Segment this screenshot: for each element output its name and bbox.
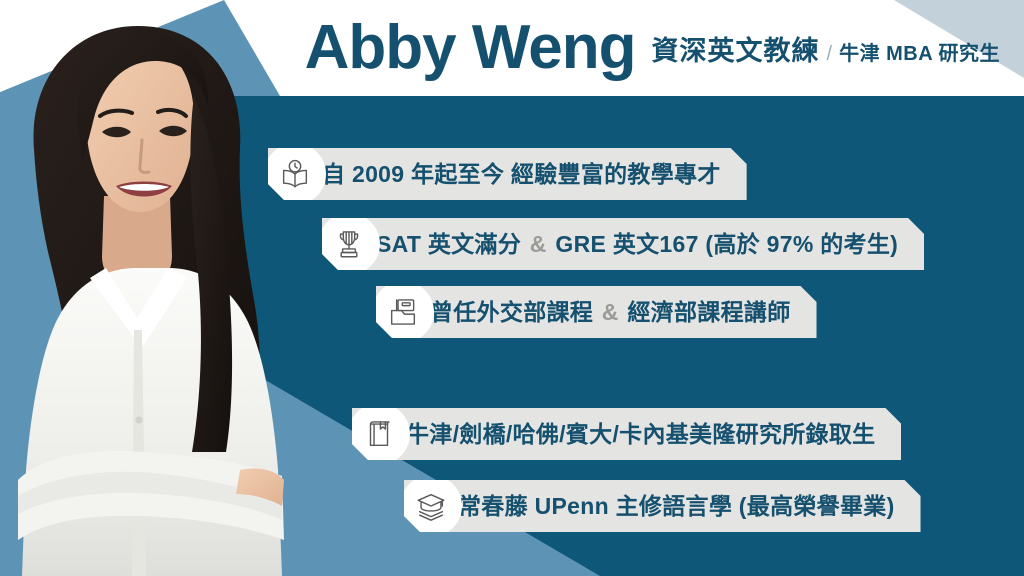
credential-text: 牛津/劍橋/哈佛/賓大/卡內基美隆研究所錄取生 bbox=[406, 423, 875, 446]
credential-text: 自 2009 年起至今 經驗豐富的教學專才 bbox=[322, 163, 721, 186]
credential-bar: SAT 英文滿分 & GRE 英文167 (高於 97% 的考生) bbox=[322, 218, 924, 270]
credential-bar: 自 2009 年起至今 經驗豐富的教學專才 bbox=[268, 148, 747, 200]
credential-row: 牛津/劍橋/哈佛/賓大/卡內基美隆研究所錄取生 bbox=[352, 408, 901, 460]
briefcase-icon bbox=[372, 281, 434, 343]
subtitle-role: 資深英文教練 bbox=[652, 29, 820, 68]
subtitle: 資深英文教練 / 牛津 MBA 研究生 bbox=[652, 29, 1000, 68]
credential-list: 自 2009 年起至今 經驗豐富的教學專才 SAT 英文滿分 & GRE 英文1… bbox=[0, 96, 1024, 576]
credential-bar: 牛津/劍橋/哈佛/賓大/卡內基美隆研究所錄取生 bbox=[352, 408, 901, 460]
page-title: Abby Weng bbox=[305, 17, 636, 79]
credential-row: 自 2009 年起至今 經驗豐富的教學專才 bbox=[268, 148, 747, 200]
credential-row: 常春藤 UPenn 主修語言學 (最高榮譽畢業) bbox=[404, 480, 921, 532]
credential-text: 曾任外交部課程 & 經濟部課程講師 bbox=[430, 301, 791, 324]
credential-text: 常春藤 UPenn 主修語言學 (最高榮譽畢業) bbox=[458, 495, 895, 518]
poster-canvas: Abby Weng 資深英文教練 / 牛津 MBA 研究生 自 2009 年起至… bbox=[0, 0, 1024, 576]
book-clock-icon bbox=[264, 143, 326, 205]
credential-bar: 曾任外交部課程 & 經濟部課程講師 bbox=[376, 286, 817, 338]
credential-row: SAT 英文滿分 & GRE 英文167 (高於 97% 的考生) bbox=[322, 218, 924, 270]
header: Abby Weng 資深英文教練 / 牛津 MBA 研究生 bbox=[0, 0, 1024, 96]
credential-bar: 常春藤 UPenn 主修語言學 (最高榮譽畢業) bbox=[404, 480, 921, 532]
subtitle-credential: 牛津 MBA 研究生 bbox=[839, 37, 1000, 66]
credential-text: SAT 英文滿分 & GRE 英文167 (高於 97% 的考生) bbox=[376, 233, 898, 256]
subtitle-separator: / bbox=[827, 43, 833, 66]
credential-row: 曾任外交部課程 & 經濟部課程講師 bbox=[376, 286, 817, 338]
trophy-icon bbox=[318, 213, 380, 275]
closed-book-icon bbox=[348, 403, 410, 465]
graduation-cap-icon bbox=[400, 475, 462, 537]
